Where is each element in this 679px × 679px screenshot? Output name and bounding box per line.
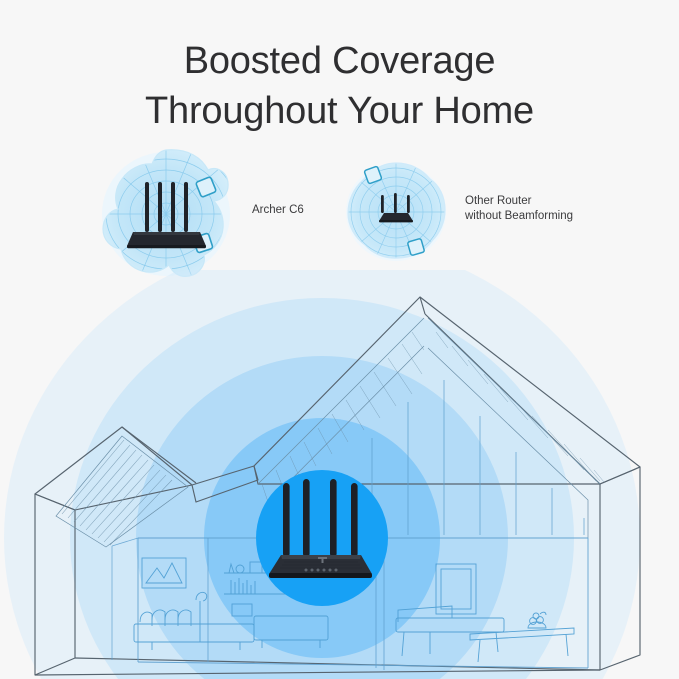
- router-comparison-band: Archer C6: [0, 140, 679, 290]
- archer-c6-label: Archer C6: [252, 203, 304, 218]
- client-device-icon: [407, 238, 424, 255]
- house-coverage-scene: [0, 270, 679, 679]
- page-title-line-2: Throughout Your Home: [0, 86, 679, 136]
- wifi-coverage-infographic: Boosted Coverage Throughout Your Home: [0, 0, 679, 679]
- other-router-coverage-diagram: [342, 158, 450, 266]
- archer-c6-coverage-diagram: [96, 144, 236, 284]
- router-base: [269, 573, 372, 578]
- other-router-label: Other Router without Beamforming: [465, 194, 573, 223]
- signal-ring-1-core: [256, 470, 388, 606]
- page-title-line-1: Boosted Coverage: [0, 36, 679, 86]
- page-title: Boosted Coverage Throughout Your Home: [0, 36, 679, 136]
- coverage-blob-fill: [96, 144, 236, 284]
- coverage-mesh-spokes: [96, 144, 236, 284]
